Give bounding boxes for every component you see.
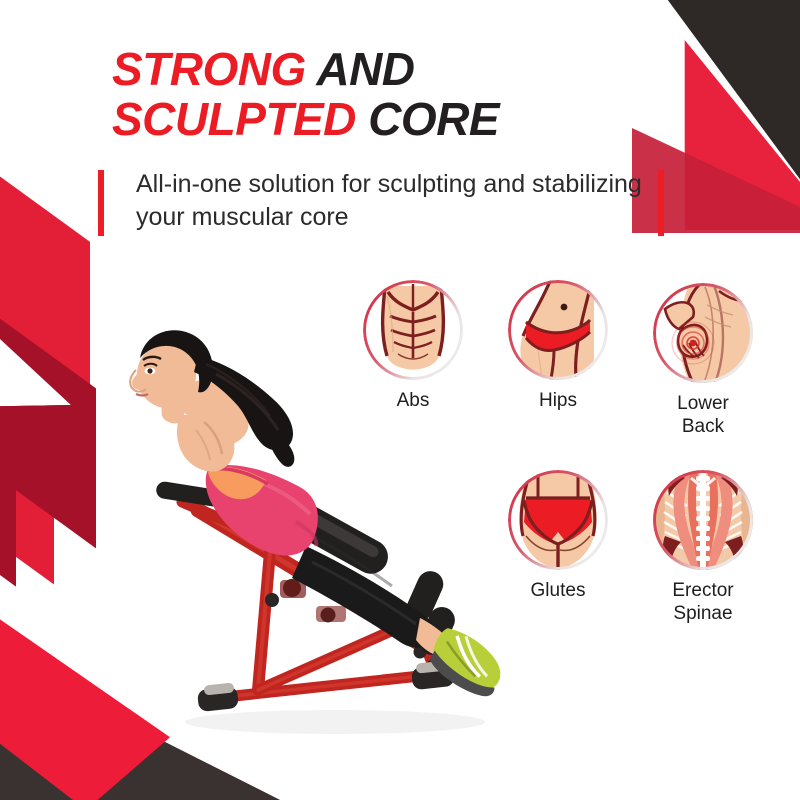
headline-sculpted: SCULPTED xyxy=(112,93,368,145)
subheading-text: All-in-one solution for sculpting and st… xyxy=(136,168,656,234)
product-photo-woman-on-bench xyxy=(120,270,550,750)
headline-line-2: SCULPTED CORE xyxy=(112,94,732,144)
erector-spinae-icon xyxy=(653,470,753,570)
headline-line-1: STRONG AND xyxy=(112,44,732,94)
muscle-item-erector-spinae[interactable]: Erector Spinae xyxy=(643,470,763,625)
headline: STRONG AND SCULPTED CORE xyxy=(112,44,732,144)
headline-core: CORE xyxy=(368,93,499,145)
muscle-item-lower-back[interactable]: Lower Back xyxy=(643,283,763,438)
subheading-block: All-in-one solution for sculpting and st… xyxy=(98,170,678,240)
muscle-label-lower-back: Lower Back xyxy=(643,392,763,438)
lower-back-pain-icon xyxy=(653,283,753,383)
subheading-right-bar xyxy=(658,170,664,236)
headline-strong: STRONG xyxy=(112,43,316,95)
marketing-poster: STRONG AND SCULPTED CORE All-in-one solu… xyxy=(0,0,800,800)
muscle-label-erector-spinae: Erector Spinae xyxy=(643,579,763,625)
headline-and: AND xyxy=(316,43,414,95)
subheading-left-bar xyxy=(98,170,104,236)
